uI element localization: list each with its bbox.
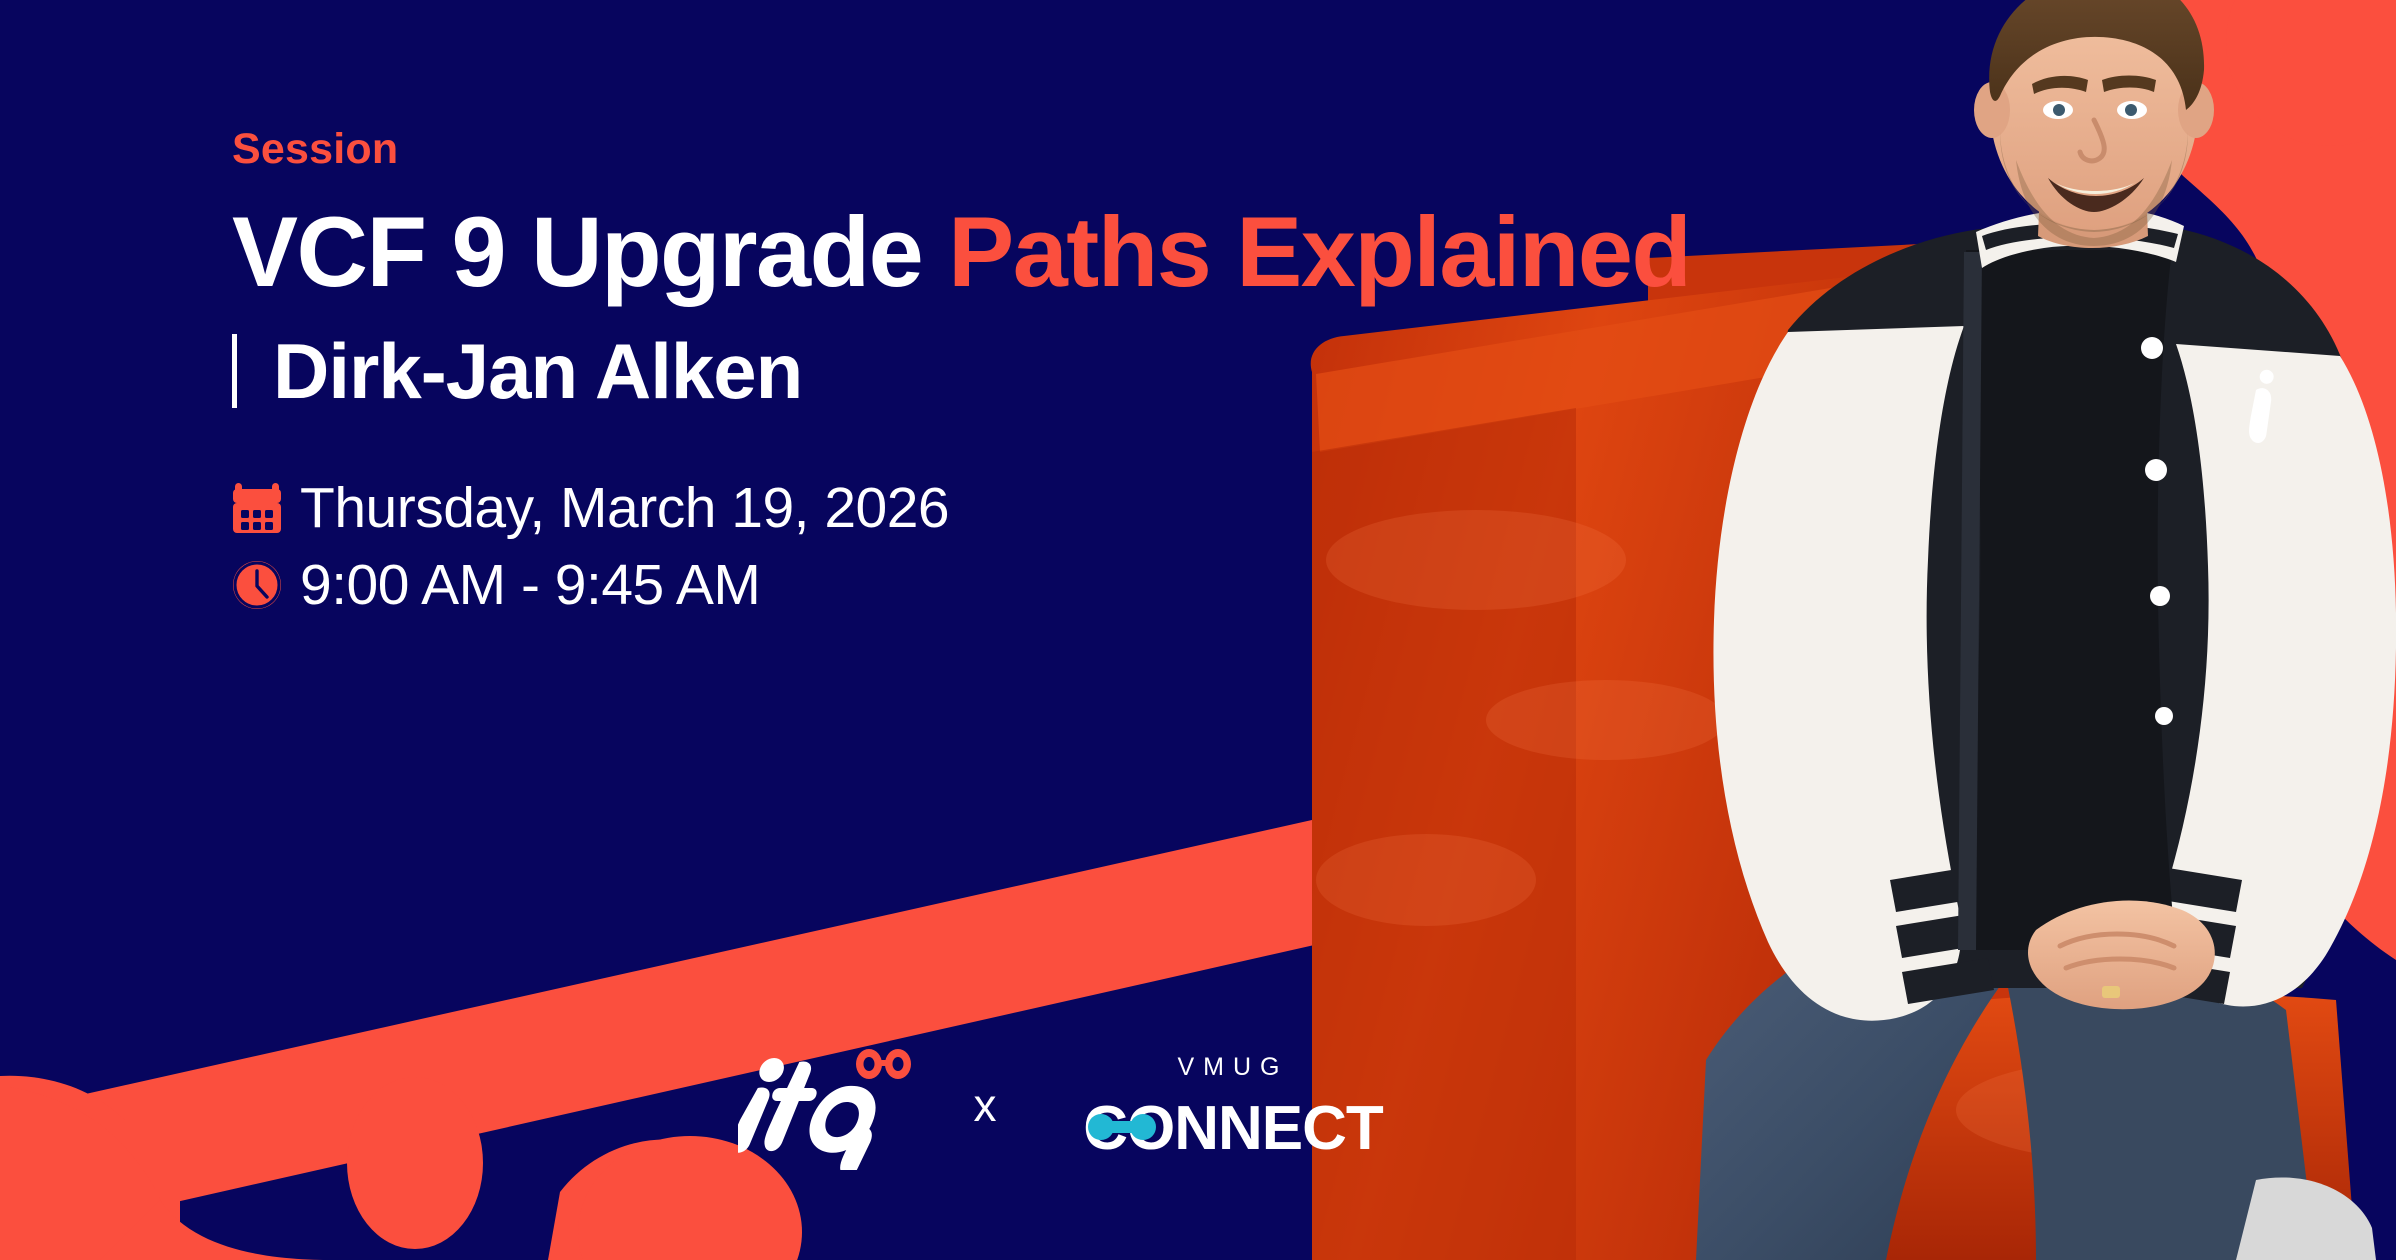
sleeve-cuff-left — [1890, 866, 1994, 1004]
logo-strip: x VMUG CONNECT — [700, 1040, 1460, 1170]
session-promo-banner: Session VCF 9 Upgrade Paths Explained Di… — [0, 0, 2396, 1260]
vmug-wordmark-top: VMUG — [1177, 1053, 1288, 1081]
vmug-connect-logo: VMUG CONNECT — [1043, 1045, 1423, 1165]
itq-glasses-mark — [856, 1049, 911, 1079]
coral-shape-bottom-left — [0, 786, 1496, 1260]
speaker-name: Dirk-Jan Alken — [273, 332, 802, 410]
clock-icon — [232, 560, 282, 610]
logo-conjunction: x — [974, 1082, 997, 1128]
clasped-hands — [2028, 900, 2215, 1009]
page-title: VCF 9 Upgrade Paths Explained — [232, 199, 1932, 306]
session-info: Session VCF 9 Upgrade Paths Explained Di… — [232, 128, 1932, 634]
session-time-row: 9:00 AM - 9:45 AM — [232, 557, 1932, 614]
session-date-row: Thursday, March 19, 2026 — [232, 480, 1932, 537]
speaker-separator-bar — [232, 334, 237, 408]
session-date-text: Thursday, March 19, 2026 — [300, 480, 949, 537]
itq-logo — [738, 1040, 928, 1170]
session-meta: Thursday, March 19, 2026 9:00 AM - 9:45 … — [232, 480, 1932, 614]
coral-blob-top-right — [2116, 0, 2396, 960]
jacket-chest-logo — [2243, 369, 2281, 444]
session-time-text: 9:00 AM - 9:45 AM — [300, 557, 760, 614]
headline-primary: VCF 9 Upgrade — [232, 196, 922, 307]
speaker-line: Dirk-Jan Alken — [232, 332, 1932, 410]
sleeve-cuff-right — [2138, 866, 2242, 1004]
session-eyebrow-label: Session — [232, 128, 1932, 171]
headline-accent: Paths Explained — [948, 196, 1690, 307]
calendar-icon — [232, 483, 282, 533]
jacket-buttons — [2141, 337, 2173, 725]
